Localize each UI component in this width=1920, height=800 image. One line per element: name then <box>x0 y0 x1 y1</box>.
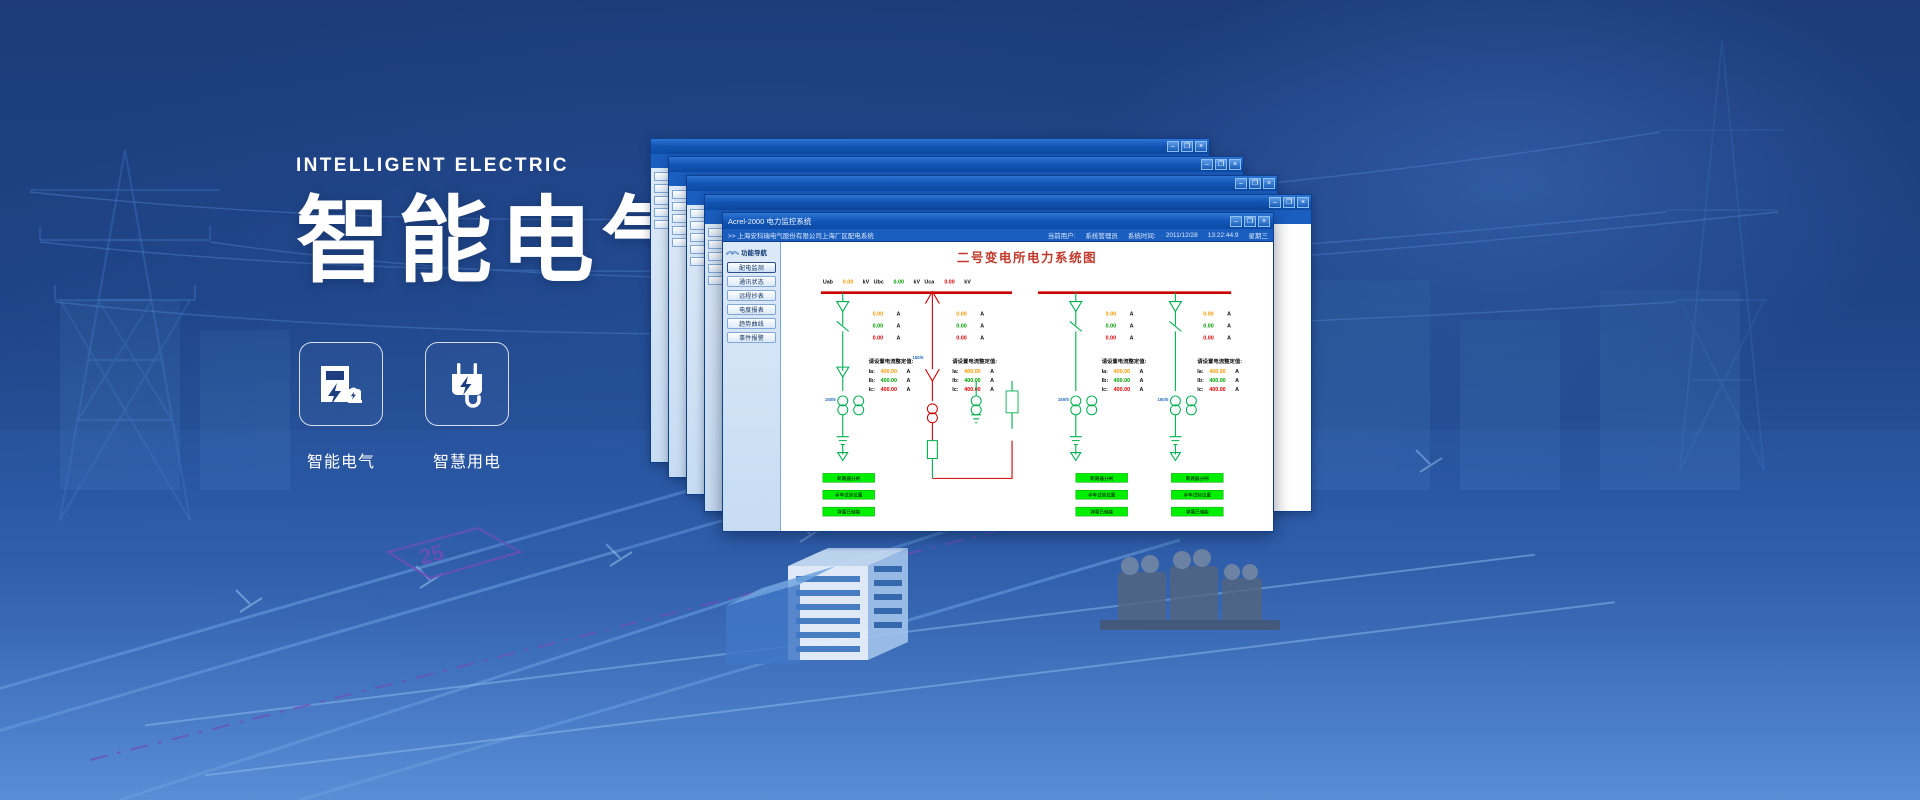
svg-text:断路器分闸: 断路器分闸 <box>1090 475 1113 482</box>
svg-text:A: A <box>906 369 910 375</box>
maximize-button[interactable]: ❐ <box>1249 178 1261 189</box>
maximize-button[interactable]: ❐ <box>1244 216 1256 227</box>
maximize-button[interactable]: ❐ <box>1215 159 1227 170</box>
feeder-3: 0.00A 0.00A 0.00A 请设置电流整定值: Ia:400.00A I… <box>1058 293 1147 516</box>
window-title-text: Acrel-2000 电力监控系统 <box>726 216 1230 227</box>
svg-text:Ubc: Ubc <box>874 280 884 286</box>
svg-text:手车试验位置: 手车试验位置 <box>835 492 863 499</box>
feature-item-intelligent-electric[interactable]: 智能电气 <box>299 342 383 472</box>
single-line-diagram[interactable]: .lbl{font-family:"Liberation Sans",sans-… <box>781 242 1273 531</box>
charging-meter-icon <box>315 358 367 410</box>
svg-text:400.00: 400.00 <box>964 378 980 384</box>
svg-text:弹簧已储能: 弹簧已储能 <box>1186 509 1209 516</box>
window-stack: – ❐ × <box>650 138 1290 538</box>
svg-text:A: A <box>1227 323 1231 329</box>
window-content: 功能导航 配电监测 通讯状态 远程抄表 电度报表 趋势曲线 <box>723 242 1273 531</box>
power-plug-icon <box>441 358 493 410</box>
maximize-button[interactable]: ❐ <box>1181 141 1193 152</box>
svg-text:A: A <box>1227 311 1231 317</box>
svg-text:A: A <box>1130 311 1134 317</box>
svg-text:Ia:: Ia: <box>1102 369 1108 375</box>
close-button[interactable]: × <box>1263 178 1275 189</box>
foreground-window-power-monitoring[interactable]: Acrel-2000 电力监控系统 – ❐ × >> 上海安科瑞电气股份有限公司… <box>722 212 1274 532</box>
svg-text:400.00: 400.00 <box>1114 378 1130 384</box>
svg-text:kV: kV <box>964 280 971 286</box>
svg-text:Ia:: Ia: <box>869 369 875 375</box>
svg-text:A: A <box>980 311 984 317</box>
window-title-bar: – ❐ × <box>669 157 1243 172</box>
svg-text:400.00: 400.00 <box>881 378 897 384</box>
svg-text:400.00: 400.00 <box>881 387 897 393</box>
svg-text:150/5: 150/5 <box>912 355 924 360</box>
svg-text:A: A <box>1227 335 1231 341</box>
svg-text:断路器分闸: 断路器分闸 <box>837 475 860 482</box>
feature-label: 智慧用电 <box>433 448 501 472</box>
sidebar-item-comm-status[interactable]: 通讯状态 <box>727 276 776 287</box>
svg-text:0.00: 0.00 <box>894 280 904 286</box>
svg-text:0.00: 0.00 <box>1106 311 1116 317</box>
close-button[interactable]: × <box>1229 159 1241 170</box>
svg-text:kV: kV <box>913 280 920 286</box>
close-button[interactable]: × <box>1297 197 1309 208</box>
svg-text:0.00: 0.00 <box>1203 311 1213 317</box>
banner-stage: 25 <box>0 0 1920 800</box>
svg-text:400.00: 400.00 <box>1209 387 1225 393</box>
feeder-1: 0.00A 0.00A 0.00A 请设置电流整定值: Ia:400.00A I… <box>823 293 914 516</box>
svg-text:A: A <box>897 311 901 317</box>
sidebar-item-label: 远程抄表 <box>739 291 764 300</box>
svg-text:400.00: 400.00 <box>964 387 980 393</box>
sidebar-item-label: 通讯状态 <box>739 277 764 286</box>
svg-text:150/5: 150/5 <box>825 397 837 402</box>
window-controls: – ❐ × <box>1235 178 1275 189</box>
svg-text:A: A <box>1140 369 1144 375</box>
svg-text:Uca: Uca <box>924 280 935 286</box>
svg-text:400.00: 400.00 <box>881 369 897 375</box>
breadcrumb: >> 上海安科瑞电气股份有限公司上海厂区配电系统 <box>723 230 879 240</box>
sidebar-item-label: 趋势曲线 <box>739 319 764 328</box>
sidebar-item-event-alarm[interactable]: 事件报警 <box>727 332 776 343</box>
svg-text:A: A <box>897 323 901 329</box>
maximize-button[interactable]: ❐ <box>1283 197 1295 208</box>
status-clock: 13:22:44.9 <box>1203 232 1244 239</box>
diagram-title: 二号变电所电力系统图 <box>957 250 1097 265</box>
svg-text:Ib:: Ib: <box>869 378 876 384</box>
svg-text:0.00: 0.00 <box>873 323 883 329</box>
svg-text:Ic:: Ic: <box>1102 387 1108 393</box>
svg-text:A: A <box>990 378 994 384</box>
svg-text:A: A <box>906 378 910 384</box>
svg-text:A: A <box>897 335 901 341</box>
sidebar-item-energy-report[interactable]: 电度报表 <box>727 304 776 315</box>
feature-item-smart-power-use[interactable]: 智慧用电 <box>425 342 509 472</box>
svg-text:请设置电流整定值:: 请设置电流整定值: <box>952 357 997 365</box>
svg-text:Ic:: Ic: <box>1197 387 1203 393</box>
minimize-button[interactable]: – <box>1230 216 1242 227</box>
window-controls: – ❐ × <box>1167 141 1207 152</box>
close-button[interactable]: × <box>1258 216 1270 227</box>
minimize-button[interactable]: – <box>1167 141 1179 152</box>
sidebar-header: 功能导航 <box>725 245 778 258</box>
status-date: 2011/12/28 <box>1161 232 1203 239</box>
feature-icon-box <box>299 342 383 426</box>
svg-text:Ib:: Ib: <box>952 378 959 384</box>
svg-text:400.00: 400.00 <box>1114 369 1130 375</box>
svg-text:0.00: 0.00 <box>1203 323 1213 329</box>
svg-text:请设置电流整定值:: 请设置电流整定值: <box>1102 357 1147 365</box>
svg-text:请设置电流整定值:: 请设置电流整定值: <box>869 357 914 365</box>
sidebar-item-remote-meter-reading[interactable]: 远程抄表 <box>727 290 776 301</box>
svg-text:A: A <box>980 335 984 341</box>
svg-text:弹簧已储能: 弹簧已储能 <box>1090 509 1113 516</box>
svg-text:Ia:: Ia: <box>952 369 958 375</box>
svg-text:A: A <box>1140 378 1144 384</box>
svg-text:手车试验位置: 手车试验位置 <box>1184 492 1212 499</box>
sidebar-item-label: 配电监测 <box>739 263 764 272</box>
status-user-value: 系统管理员 <box>1080 230 1123 240</box>
window-controls: – ❐ × <box>1201 159 1241 170</box>
svg-text:400.00: 400.00 <box>1209 369 1225 375</box>
svg-text:Uab: Uab <box>823 280 834 286</box>
window-title-bar: – ❐ × <box>651 139 1209 154</box>
svg-text:A: A <box>1130 335 1134 341</box>
svg-text:0.00: 0.00 <box>873 335 883 341</box>
close-button[interactable]: × <box>1195 141 1207 152</box>
sidebar-item-power-monitoring[interactable]: 配电监测 <box>727 262 776 273</box>
svg-text:Ic:: Ic: <box>869 387 875 393</box>
sidebar-item-label: 电度报表 <box>739 305 764 314</box>
window-controls: – ❐ × <box>1230 216 1270 227</box>
svg-text:0.00: 0.00 <box>956 335 966 341</box>
svg-text:Ib:: Ib: <box>1197 378 1204 384</box>
svg-text:0.00: 0.00 <box>1106 323 1116 329</box>
minimize-button[interactable]: – <box>1269 197 1281 208</box>
svg-text:A: A <box>990 369 994 375</box>
window-title-bar: Acrel-2000 电力监控系统 – ❐ × <box>723 213 1273 229</box>
feature-label: 智能电气 <box>307 448 375 472</box>
sidebar-item-label: 事件报警 <box>739 333 764 342</box>
svg-text:0.00: 0.00 <box>873 311 883 317</box>
svg-text:0.00: 0.00 <box>956 323 966 329</box>
svg-text:A: A <box>1235 378 1239 384</box>
svg-text:400.00: 400.00 <box>964 369 980 375</box>
svg-text:Ic:: Ic: <box>952 387 958 393</box>
svg-text:Ia:: Ia: <box>1197 369 1203 375</box>
svg-text:0.00: 0.00 <box>944 280 954 286</box>
svg-text:0.00: 0.00 <box>1203 335 1213 341</box>
svg-text:请设置电流整定值:: 请设置电流整定值: <box>1197 357 1242 365</box>
book-icon <box>726 247 739 256</box>
svg-text:150/5: 150/5 <box>1058 397 1070 402</box>
feature-icon-box <box>425 342 509 426</box>
svg-text:0.00: 0.00 <box>843 280 853 286</box>
svg-text:弹簧已储能: 弹簧已储能 <box>837 509 860 516</box>
svg-text:A: A <box>1130 323 1134 329</box>
svg-text:400.00: 400.00 <box>1114 387 1130 393</box>
minimize-button[interactable]: – <box>1201 159 1213 170</box>
window-title-bar: – ❐ × <box>705 195 1311 210</box>
svg-text:150/5: 150/5 <box>1157 397 1169 402</box>
svg-text:0.00: 0.00 <box>956 311 966 317</box>
svg-text:A: A <box>906 387 910 393</box>
svg-text:A: A <box>1235 369 1239 375</box>
voltage-readout: Uab 0.00 kV Ubc 0.00 kV Uca 0.00 kV <box>823 280 971 286</box>
svg-text:Ib:: Ib: <box>1102 378 1109 384</box>
status-user-label: 当前用户: <box>1043 230 1081 240</box>
window-controls: – ❐ × <box>1269 197 1309 208</box>
status-weekday: 星期三 <box>1244 230 1274 240</box>
feeder-2: 0.00A 0.00A 0.00A 请设置电流整定值: Ia:400.00A I… <box>912 292 1018 479</box>
sidebar-header-label: 功能导航 <box>741 247 767 257</box>
minimize-button[interactable]: – <box>1235 178 1247 189</box>
svg-text:400.00: 400.00 <box>1209 378 1225 384</box>
svg-text:A: A <box>980 323 984 329</box>
svg-text:kV: kV <box>863 280 870 286</box>
sidebar-item-trend-curve[interactable]: 趋势曲线 <box>727 318 776 329</box>
feeder-4: 0.00A 0.00A 0.00A 请设置电流整定值: Ia:400.00A I… <box>1157 293 1242 516</box>
svg-text:手车试验位置: 手车试验位置 <box>1088 492 1116 499</box>
svg-text:断路器分闸: 断路器分闸 <box>1186 475 1209 482</box>
status-bar: >> 上海安科瑞电气股份有限公司上海厂区配电系统 当前用户: 系统管理员 系统时… <box>723 229 1273 242</box>
svg-text:A: A <box>990 387 994 393</box>
status-time-label: 系统时间: <box>1123 230 1161 240</box>
svg-text:0.00: 0.00 <box>1106 335 1116 341</box>
window-title-bar: – ❐ × <box>687 176 1277 191</box>
svg-text:A: A <box>1140 387 1144 393</box>
sidebar: 功能导航 配电监测 通讯状态 远程抄表 电度报表 趋势曲线 <box>723 242 781 531</box>
svg-text:A: A <box>1235 387 1239 393</box>
feature-list: 智能电气 智慧用电 <box>299 342 509 472</box>
